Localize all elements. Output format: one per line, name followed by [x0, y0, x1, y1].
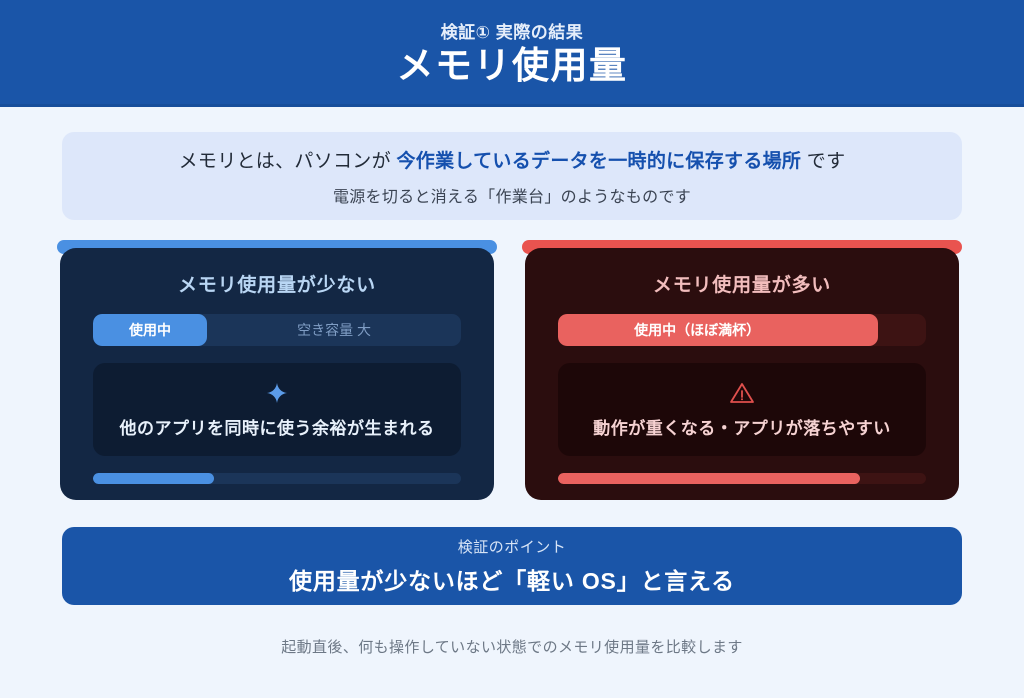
warning-panel-high: 動作が重くなる・アプリが落ちやすい	[558, 363, 926, 456]
memory-progress-low	[93, 473, 461, 484]
meter-used-fill-high: 使用中（ほぼ満杯）	[558, 314, 878, 346]
memory-meter-high: 少 使用中（ほぼ満杯）	[558, 314, 926, 346]
slide-root: 検証① 実際の結果 メモリ使用量 メモリとは、パソコンが 今作業しているデータを…	[0, 0, 1024, 698]
definition-suffix: です	[801, 151, 845, 172]
memory-progress-fill-low	[93, 473, 214, 484]
memory-definition-box: メモリとは、パソコンが 今作業しているデータを一時的に保存する場所 です 電源を…	[62, 132, 962, 220]
card-title-high: メモリ使用量が多い	[558, 270, 926, 297]
header-eyebrow: 検証① 実際の結果	[441, 18, 584, 43]
definition-line-1: メモリとは、パソコンが 今作業しているデータを一時的に保存する場所 です	[179, 146, 846, 173]
page-title: メモリ使用量	[397, 47, 628, 86]
footer-note: 起動直後、何も操作していない状態でのメモリ使用量を比較します	[0, 636, 1024, 657]
meter-used-fill-low: 使用中	[93, 314, 207, 346]
card-title-low: メモリ使用量が少ない	[93, 270, 461, 297]
memory-meter-low: 空き容量 大 使用中	[93, 314, 461, 346]
card-high-memory-usage: メモリ使用量が多い 少 使用中（ほぼ満杯） 動作が重くなる・アプリが落ちやすい	[525, 248, 959, 500]
definition-prefix: メモリとは、パソコンが	[179, 151, 397, 172]
definition-line-2: 電源を切ると消える「作業台」のようなものです	[333, 183, 691, 207]
warning-triangle-icon	[729, 380, 755, 406]
meter-free-label-low: 空き容量 大	[207, 314, 461, 346]
card-low-memory-usage: メモリ使用量が少ない 空き容量 大 使用中 他のアプリを同時に使う余裕が生まれる	[60, 248, 494, 500]
conclusion-banner: 検証のポイント 使用量が少ないほど「軽い OS」と言える	[62, 527, 962, 605]
definition-highlight: 今作業しているデータを一時的に保存する場所	[396, 151, 801, 172]
meter-used-label-high: 使用中（ほぼ満杯）	[634, 320, 760, 340]
meter-used-label-low: 使用中	[129, 320, 171, 340]
warning-text-high: 動作が重くなる・アプリが落ちやすい	[593, 414, 891, 439]
header-banner: 検証① 実際の結果 メモリ使用量	[0, 0, 1024, 107]
benefit-text-low: 他のアプリを同時に使う余裕が生まれる	[120, 414, 435, 439]
conclusion-main-text: 使用量が少ないほど「軽い OS」と言える	[289, 562, 735, 596]
conclusion-eyebrow: 検証のポイント	[458, 536, 567, 557]
comparison-cards: メモリ使用量が少ない 空き容量 大 使用中 他のアプリを同時に使う余裕が生まれる	[60, 240, 966, 500]
sparkle-icon	[266, 380, 288, 406]
memory-progress-fill-high	[558, 473, 860, 484]
benefit-panel-low: 他のアプリを同時に使う余裕が生まれる	[93, 363, 461, 456]
memory-progress-high	[558, 473, 926, 484]
